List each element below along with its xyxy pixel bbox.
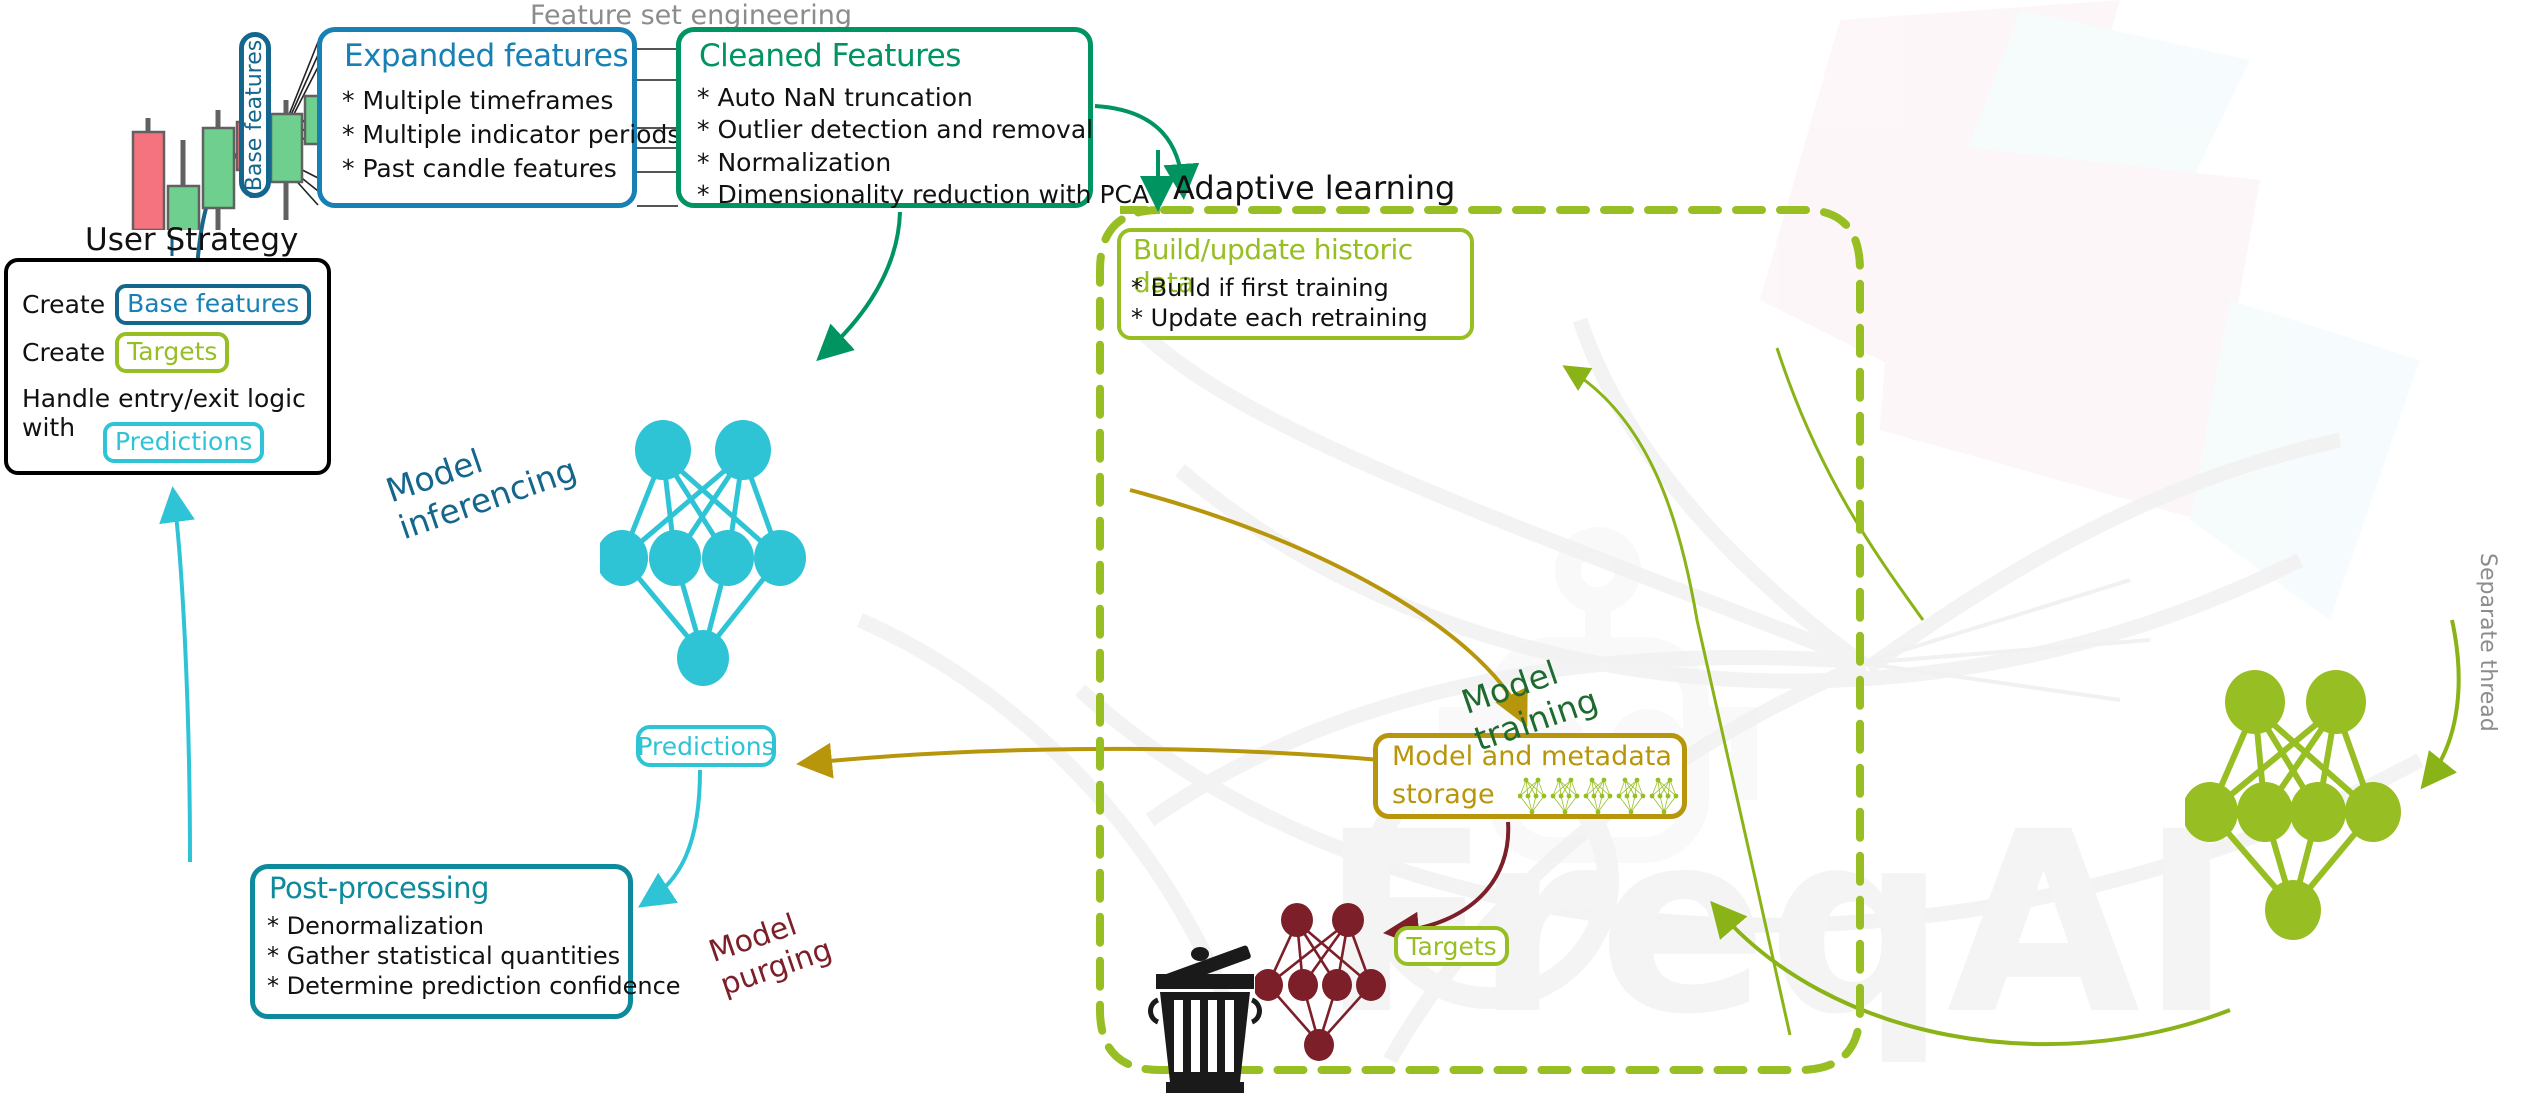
storage-line1: Model and metadata	[1392, 741, 1672, 772]
bullet: * Dimensionality reduction with PCA	[697, 179, 1149, 211]
targets-tag[interactable]: Targets	[115, 332, 229, 373]
bullet: * Gather statistical quantities	[267, 941, 681, 971]
bullet: * Build if first training	[1131, 273, 1428, 303]
cleaned-features-box[interactable]: Cleaned Features * Auto NaN truncation *…	[676, 27, 1093, 208]
adaptive-learning-title: Adaptive learning	[1173, 169, 1455, 207]
post-processing-box[interactable]: Post-processing * Denormalization * Gath…	[250, 864, 633, 1019]
expanded-features-box[interactable]: Expanded features * Multiple timeframes …	[317, 27, 637, 208]
user-strategy-row-4: Predictions	[103, 422, 264, 463]
base-features-tag[interactable]: Base features	[115, 284, 311, 325]
cleaned-features-bullets: * Auto NaN truncation * Outlier detectio…	[697, 82, 1149, 212]
bullet: * Auto NaN truncation	[697, 82, 1149, 114]
targets-label: Targets	[1406, 932, 1496, 961]
build-update-bullets: * Build if first training * Update each …	[1131, 273, 1428, 334]
user-strategy-row-2: Create Targets	[22, 332, 229, 373]
user-strategy-row-1: Create Base features	[22, 284, 311, 325]
bullet: * Denormalization	[267, 911, 681, 941]
predictions-pill[interactable]: Predictions	[636, 725, 776, 767]
targets-pill[interactable]: Targets	[1394, 926, 1509, 966]
bullet: * Update each retraining	[1131, 303, 1428, 333]
training-neural-network-icon	[2185, 650, 2435, 960]
model-metadata-storage-box[interactable]: Model and metadata storage	[1373, 733, 1687, 819]
post-processing-bullets: * Denormalization * Gather statistical q…	[267, 911, 681, 1002]
expanded-features-title: Expanded features	[344, 38, 628, 74]
post-processing-title: Post-processing	[269, 871, 489, 905]
stored-models-network-icon	[1518, 774, 1688, 818]
bullet: * Multiple timeframes	[342, 84, 680, 118]
storage-line2: storage	[1392, 779, 1495, 810]
trash-can-icon	[1146, 930, 1266, 1095]
user-strategy-box[interactable]: Create Base features Create Targets Hand…	[4, 258, 331, 475]
base-features-pill[interactable]: Base features	[239, 32, 271, 198]
bullet: * Past candle features	[342, 152, 680, 186]
freqai-architecture-diagram: FreqAI	[0, 0, 2539, 1104]
bullet: * Normalization	[697, 147, 1149, 179]
predictions-tag[interactable]: Predictions	[103, 422, 264, 463]
separate-thread-label: Separate thread	[2475, 553, 2500, 732]
base-features-label: Base features	[243, 39, 268, 190]
bullet: * Determine prediction confidence	[267, 971, 681, 1001]
cleaned-features-title: Cleaned Features	[699, 38, 961, 74]
create-label: Create	[22, 290, 105, 319]
bullet: * Multiple indicator periods	[342, 118, 680, 152]
bullet: * Outlier detection and removal	[697, 114, 1149, 146]
build-update-historic-data-box[interactable]: Build/update historic data * Build if fi…	[1117, 228, 1474, 340]
inference-neural-network-icon	[600, 400, 840, 730]
expanded-features-bullets: * Multiple timeframes * Multiple indicat…	[342, 84, 680, 186]
create-label: Create	[22, 338, 105, 367]
predictions-label: Predictions	[637, 732, 774, 761]
user-strategy-title: User Strategy	[85, 222, 298, 258]
purged-model-network-icon	[1255, 900, 1415, 1080]
